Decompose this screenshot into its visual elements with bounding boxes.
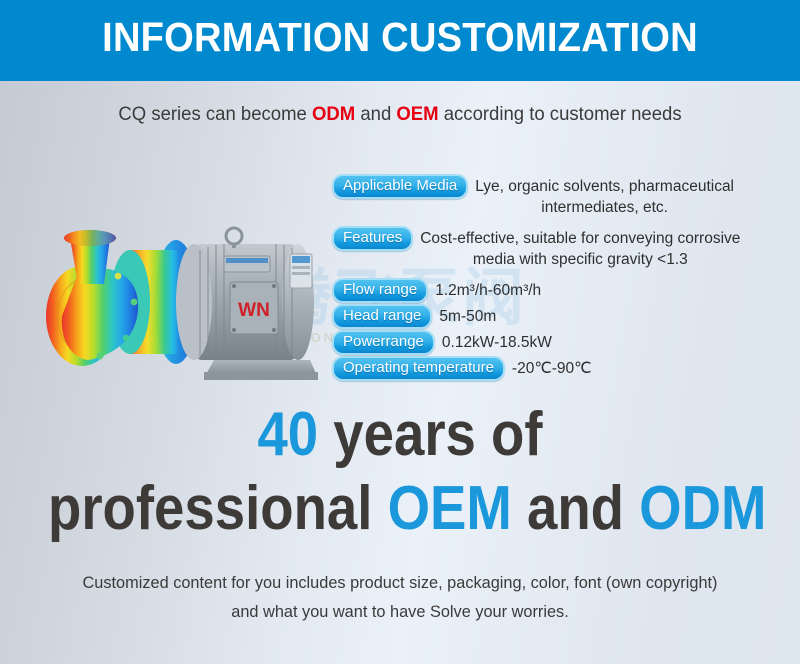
spec-row-flow-range: Flow range 1.2m³/h-60m³/h: [332, 278, 541, 303]
spec-row-operating-temperature: Operating temperature -20℃-90℃: [332, 356, 592, 381]
spec-label-applicable-media: Applicable Media: [332, 174, 468, 199]
spec-value-line-1: Lye, organic solvents, pharmaceutical: [475, 178, 734, 195]
spec-row-power-range: Powerrange 0.12kW-18.5kW: [332, 330, 552, 355]
spec-label-head-range: Head range: [332, 304, 432, 329]
subtitle-odm: ODM: [312, 103, 355, 125]
information-customization-banner: INFORMATION CUSTOMIZATION CQ series can …: [0, 0, 800, 664]
page-title: INFORMATION CUSTOMIZATION: [28, 14, 772, 61]
spec-value-features: Cost-effective, suitable for conveying c…: [420, 226, 740, 270]
spec-value-power-range: 0.12kW-18.5kW: [442, 330, 552, 353]
spec-row-features: Features Cost-effective, suitable for co…: [332, 226, 740, 270]
electric-motor: WN: [176, 228, 318, 380]
headline-and: and: [512, 474, 639, 543]
spec-value-line-2: media with specific gravity <1.3: [420, 249, 740, 270]
subtitle: CQ series can become ODM and OEM accordi…: [20, 103, 780, 126]
spec-label-flow-range: Flow range: [332, 278, 428, 303]
subtitle-part-2: and: [355, 103, 396, 125]
product-image-pump: WN: [18, 198, 338, 398]
spec-row-applicable-media: Applicable Media Lye, organic solvents, …: [332, 174, 734, 218]
headline-oem: OEM: [388, 474, 512, 543]
headline-line-1: 40 years of: [48, 398, 752, 472]
spec-value-line-2: intermediates, etc.: [475, 197, 734, 218]
spec-value-flow-range: 1.2m³/h-60m³/h: [435, 278, 541, 301]
headline: 40 years of professional OEM and ODM: [0, 398, 800, 546]
spec-label-features: Features: [332, 226, 413, 251]
footer-line-2: and what you want to have Solve your wor…: [16, 597, 784, 626]
footer-paragraph: Customized content for you includes prod…: [16, 568, 784, 626]
spec-value-applicable-media: Lye, organic solvents, pharmaceutical in…: [475, 174, 734, 218]
motor-brand-label: WN: [238, 300, 270, 321]
headline-years-number: 40: [257, 400, 318, 469]
spec-label-power-range: Powerrange: [332, 330, 435, 355]
headline-odm: ODM: [639, 474, 766, 543]
headline-professional: professional: [48, 474, 388, 543]
headline-years-rest: years of: [318, 400, 542, 469]
spec-row-head-range: Head range 5m-50m: [332, 304, 496, 329]
subtitle-part-3: according to customer needs: [439, 103, 682, 125]
footer-line-1: Customized content for you includes prod…: [16, 568, 784, 597]
spec-value-line-1: Cost-effective, suitable for conveying c…: [420, 230, 740, 247]
subtitle-oem: OEM: [396, 103, 438, 125]
spec-label-operating-temperature: Operating temperature: [332, 356, 505, 381]
headline-line-2: professional OEM and ODM: [48, 472, 752, 546]
header-bar: INFORMATION CUSTOMIZATION: [0, 0, 800, 81]
spec-value-operating-temperature: -20℃-90℃: [512, 356, 592, 379]
spec-value-head-range: 5m-50m: [439, 304, 496, 327]
subtitle-part-1: CQ series can become: [118, 103, 312, 125]
